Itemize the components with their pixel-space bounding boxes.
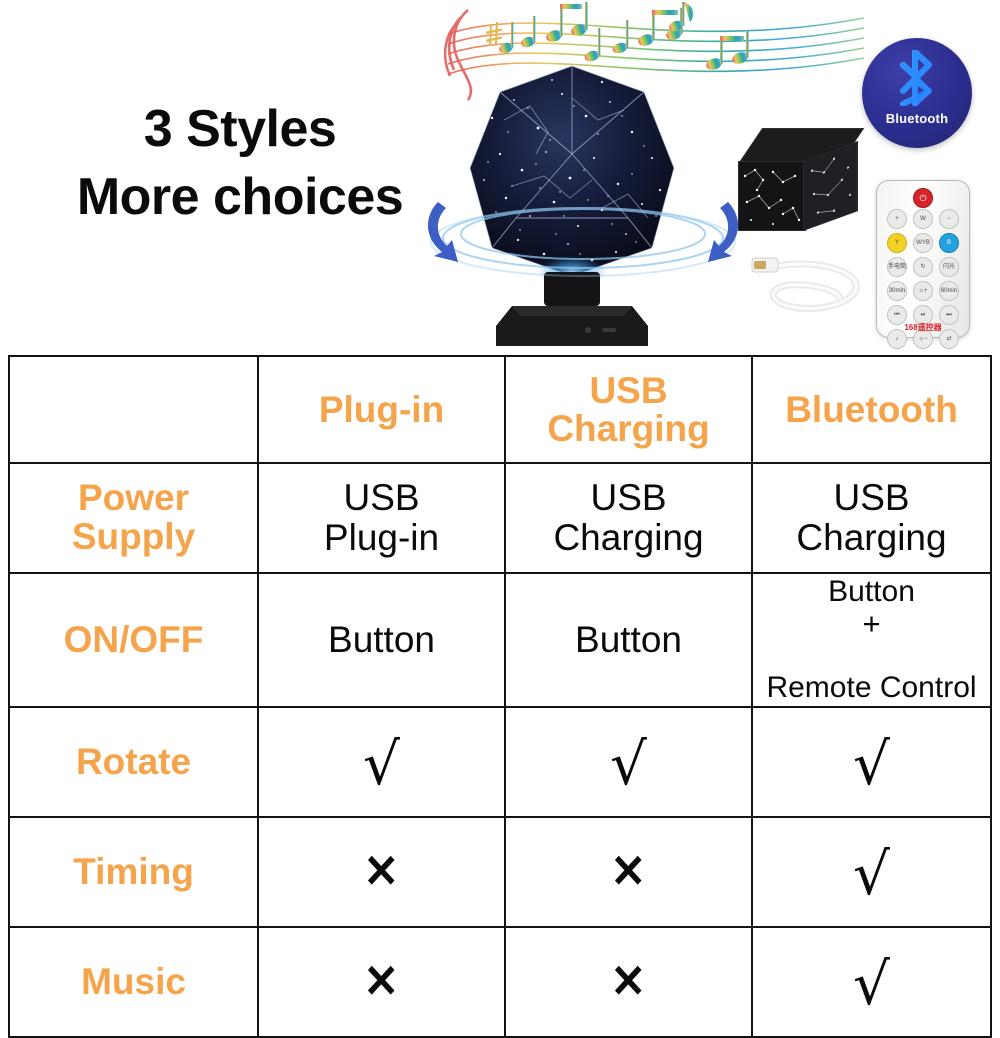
cell-supported: √ — [752, 927, 991, 1037]
remote-control-icon: ⏻ + W − Y WYB B 手电筒 ↻ 闪光 30min ☼+ 60min … — [876, 180, 970, 338]
cell-supported: √ — [752, 817, 991, 927]
row-label: PowerSupply — [14, 479, 253, 557]
row-label-cell: Rotate — [9, 707, 258, 817]
remote-button: B — [939, 233, 959, 253]
table-row: Rotate√√√ — [9, 707, 991, 817]
column-header-plug-in: Plug-in — [258, 356, 505, 463]
column-header-usb-charging: USBCharging — [505, 356, 752, 463]
row-label-cell: Music — [9, 927, 258, 1037]
remote-button: WYB — [913, 233, 933, 253]
row-label-cell: PowerSupply — [9, 463, 258, 573]
check-icon: √ — [363, 738, 400, 790]
headline-line-1: 3 Styles — [40, 96, 440, 164]
column-header-label: USBCharging — [510, 372, 747, 447]
cell-value: Button — [505, 573, 752, 707]
hero-product-banner: 3 Styles More choices — [0, 0, 1000, 355]
cell-unsupported: ✕ — [505, 927, 752, 1037]
remote-button: + — [887, 209, 907, 229]
remote-button: 30min — [887, 281, 907, 301]
table-corner-cell — [9, 356, 258, 463]
headline-line-2: More choices — [40, 164, 440, 232]
cell-value-text: USBPlug-in — [263, 478, 500, 558]
check-icon: √ — [853, 738, 890, 790]
cell-value-text: Button — [510, 620, 747, 660]
remote-button: ☼+ — [913, 281, 933, 301]
row-label: ON/OFF — [14, 621, 253, 660]
check-icon: √ — [853, 958, 890, 1010]
check-icon: √ — [610, 738, 647, 790]
row-label-cell: ON/OFF — [9, 573, 258, 707]
row-label: Rotate — [14, 743, 253, 782]
cross-icon: ✕ — [611, 961, 646, 1002]
cell-unsupported: ✕ — [258, 927, 505, 1037]
remote-button: − — [939, 209, 959, 229]
row-label: Music — [14, 963, 253, 1002]
table-row: Music✕✕√ — [9, 927, 991, 1037]
column-header-bluetooth: Bluetooth — [752, 356, 991, 463]
feature-comparison-table: Plug-inUSBChargingBluetoothPowerSupplyUS… — [8, 355, 992, 1038]
remote-button: Y — [887, 233, 907, 253]
cell-value-text: USBCharging — [757, 478, 986, 558]
remote-button: 手电筒 — [887, 257, 907, 277]
cross-icon: ✕ — [611, 851, 646, 892]
cell-value: Button+Remote Control — [752, 573, 991, 707]
cell-value: USBPlug-in — [258, 463, 505, 573]
cell-supported: √ — [752, 707, 991, 817]
cell-supported: √ — [505, 707, 752, 817]
power-icon: ⏻ — [913, 188, 933, 208]
page-title: 3 Styles More choices — [40, 96, 440, 231]
rotation-arrows-icon — [418, 176, 748, 291]
table-row: ON/OFFButtonButtonButton+Remote Control — [9, 573, 991, 707]
cell-unsupported: ✕ — [258, 817, 505, 927]
table-header-row: Plug-inUSBChargingBluetooth — [9, 356, 991, 463]
bluetooth-icon — [895, 50, 939, 106]
column-header-label: Bluetooth — [757, 391, 986, 429]
row-label-cell: Timing — [9, 817, 258, 927]
table-row: Timing✕✕√ — [9, 817, 991, 927]
cell-value: USBCharging — [752, 463, 991, 573]
cell-supported: √ — [258, 707, 505, 817]
cell-value: USBCharging — [505, 463, 752, 573]
remote-model-label: 168遥控器 — [877, 322, 969, 333]
cell-value-text: Button+Remote Control — [757, 576, 986, 704]
bluetooth-badge: Bluetooth — [862, 38, 972, 148]
check-icon: √ — [853, 848, 890, 900]
remote-button: ↻ — [913, 257, 933, 277]
cell-unsupported: ✕ — [505, 817, 752, 927]
column-header-label: Plug-in — [263, 391, 500, 429]
cross-icon: ✕ — [364, 851, 399, 892]
cell-value-text: USBCharging — [510, 478, 747, 558]
remote-button: 闪光 — [939, 257, 959, 277]
bluetooth-badge-label: Bluetooth — [862, 111, 972, 126]
table-row: PowerSupplyUSBPlug-inUSBChargingUSBCharg… — [9, 463, 991, 573]
gift-box-icon — [738, 128, 850, 240]
usb-cable-icon — [748, 250, 868, 320]
cell-value: Button — [258, 573, 505, 707]
remote-button: 60min — [939, 281, 959, 301]
row-label: Timing — [14, 853, 253, 892]
cell-value-text: Button — [263, 620, 500, 660]
remote-button: W — [913, 209, 933, 229]
cross-icon: ✕ — [364, 961, 399, 1002]
